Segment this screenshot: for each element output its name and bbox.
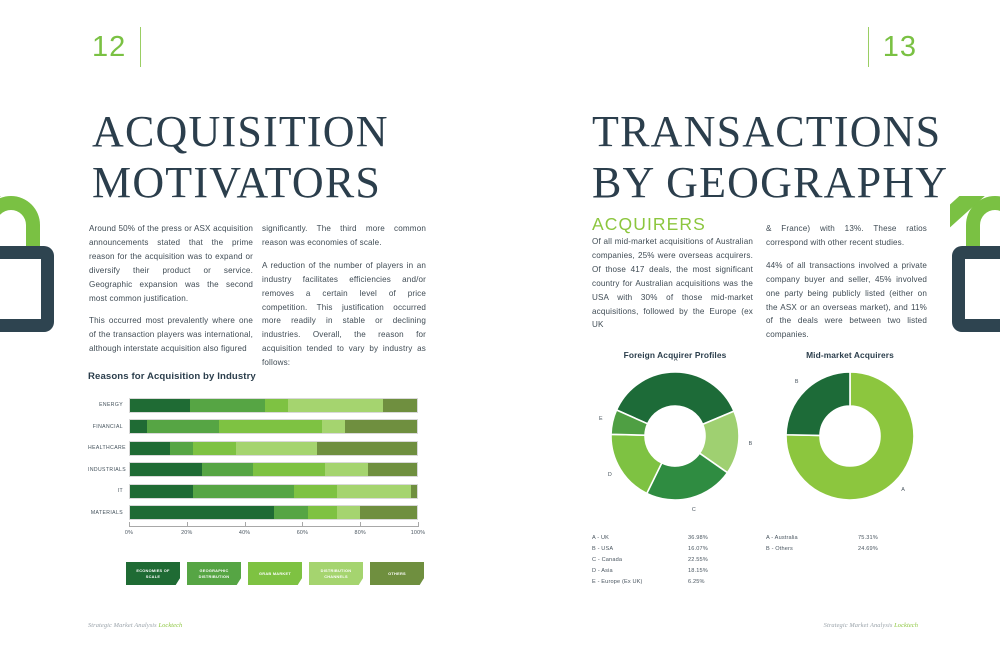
- footer-brand: Locktech: [158, 622, 182, 629]
- footer-prefix: Strategic Market Analysis: [824, 622, 893, 629]
- donut-legend-item: D - Asia18.15%: [592, 566, 742, 577]
- donut-legend-item: C - Canada22.55%: [592, 555, 742, 566]
- donut-legend-label: C - Canada: [592, 555, 688, 566]
- bar-segment: [236, 442, 316, 455]
- bar-chart-legend: ECONOMIES OF SCALEGEOGRAPHIC DISTRIBUTIO…: [126, 562, 424, 585]
- page-number-right-text: 13: [883, 33, 917, 62]
- bar-segment: [360, 506, 417, 519]
- bar-segment: [219, 420, 322, 433]
- bar-legend-item[interactable]: ECONOMIES OF SCALE: [126, 562, 180, 585]
- acquirers-section-heading: ACQUIRERS: [592, 214, 706, 235]
- bar-chart-row: ENERGY: [88, 397, 418, 413]
- bar-chart-row: FINANCIAL: [88, 419, 418, 435]
- donut-slice-label: E: [599, 416, 603, 422]
- page-number-left: 12: [92, 27, 141, 67]
- donut-legend-label: A - Australia: [766, 533, 858, 544]
- bar-legend-item[interactable]: GRAB MARKET: [248, 562, 302, 585]
- left-page-title-line-2: MOTIVATORS: [92, 157, 389, 208]
- bar-segment: [411, 485, 417, 498]
- axis-tick-label: 40%: [239, 530, 250, 536]
- donut-legend-value: 16.07%: [688, 544, 708, 555]
- donut-svg: [609, 370, 741, 502]
- donut-legend-value: 24.69%: [858, 544, 878, 555]
- mid-market-acquirers-chart: Mid-market Acquirers AB: [770, 350, 930, 514]
- bar-category-label: HEALTHCARE: [88, 445, 129, 451]
- bar-chart: Reasons for Acquisition by Industry ENER…: [88, 371, 418, 539]
- donut-legend-value: 18.15%: [688, 566, 708, 577]
- donut-legend-item: A - UK36.98%: [592, 533, 742, 544]
- footer-right: Strategic Market Analysis Locktech: [824, 622, 918, 629]
- donut-slice-label: A: [901, 487, 905, 493]
- donut-2-legend: A - Australia75.31%B - Others24.69%: [766, 533, 926, 555]
- bar-chart-row: IT: [88, 483, 418, 499]
- donut-legend-value: 22.55%: [688, 555, 708, 566]
- axis-tick-label: 0%: [125, 530, 133, 536]
- donut-legend-label: B - Others: [766, 544, 858, 555]
- bar-chart-plot-area: ENERGYFINANCIALHEALTHCAREINDUSTRIALSITMA…: [88, 397, 418, 521]
- bar-segment: [130, 442, 170, 455]
- bar-segment: [147, 420, 219, 433]
- bar-segment: [294, 485, 337, 498]
- bar-segment: [130, 485, 193, 498]
- bar-segment: [325, 463, 368, 476]
- donut-legend-item: B - Others24.69%: [766, 544, 926, 555]
- bar-category-label: ENERGY: [88, 402, 129, 408]
- paragraph: Around 50% of the press or ASX acquisiti…: [89, 222, 253, 305]
- bar-track: [129, 441, 418, 456]
- bar-track: [129, 419, 418, 434]
- page-number-divider: [868, 27, 869, 67]
- bar-category-label: MATERIALS: [88, 510, 129, 516]
- donut-slice-label: B: [795, 379, 799, 385]
- bar-segment: [190, 399, 265, 412]
- bar-segment: [308, 506, 337, 519]
- donut-slice-label: C: [692, 507, 696, 513]
- right-page-title-line-1: TRANSACTIONS: [592, 106, 948, 157]
- axis-tick-label: 20%: [181, 530, 192, 536]
- footer-brand: Locktech: [894, 622, 918, 629]
- donut-svg: [784, 370, 916, 502]
- page-number-right: 13: [868, 27, 917, 67]
- bar-chart-row: INDUSTRIALS: [88, 462, 418, 478]
- bar-segment: [253, 463, 325, 476]
- right-page-title-line-2: BY GEOGRAPHY: [592, 157, 948, 208]
- donut-legend-label: A - UK: [592, 533, 688, 544]
- bar-segment: [337, 506, 360, 519]
- donut-slice-label: B: [749, 441, 753, 447]
- bar-legend-item[interactable]: GEOGRAPHIC DISTRIBUTION: [187, 562, 241, 585]
- foreign-acquirer-profiles-chart: Foreign Acquirer Profiles ABCDE: [595, 350, 755, 514]
- paragraph: A reduction of the number of players in …: [262, 259, 426, 370]
- donut-2-plot-area: AB: [770, 366, 930, 514]
- bar-chart-x-tick-labels: 0%20%40%60%80%100%: [129, 527, 418, 539]
- donut-slice: [617, 372, 734, 424]
- axis-tick-label: 60%: [297, 530, 308, 536]
- bar-segment: [337, 485, 412, 498]
- bar-track: [129, 505, 418, 520]
- donut-legend-label: D - Asia: [592, 566, 688, 577]
- right-page-body-column-1: Of all mid-market acquisitions of Austra…: [592, 235, 753, 332]
- bar-chart-row: MATERIALS: [88, 505, 418, 521]
- donut-legend-value: 75.31%: [858, 533, 878, 544]
- axis-tick-label: 100%: [411, 530, 426, 536]
- bar-segment: [202, 463, 254, 476]
- document-spread: 12 13 ACQUISITION MOTIVATORS Around 50% …: [0, 0, 1000, 647]
- bar-segment: [193, 442, 236, 455]
- bar-segment: [130, 399, 190, 412]
- paragraph: significantly. The third more common rea…: [262, 222, 426, 250]
- donut-slice-label: A: [674, 357, 678, 363]
- right-page-title: TRANSACTIONS BY GEOGRAPHY: [592, 106, 948, 209]
- donut-1-legend: A - UK36.98%B - USA16.07%C - Canada22.55…: [592, 533, 742, 588]
- paragraph: & France) with 13%. These ratios corresp…: [766, 222, 927, 250]
- left-page-title: ACQUISITION MOTIVATORS: [92, 106, 389, 209]
- bar-segment: [265, 399, 288, 412]
- left-page-title-line-1: ACQUISITION: [92, 106, 389, 157]
- axis-tick-label: 80%: [354, 530, 365, 536]
- donut-2-title: Mid-market Acquirers: [770, 350, 930, 360]
- donut-legend-item: E - Europe (Ex UK)6.25%: [592, 577, 742, 588]
- bar-segment: [193, 485, 293, 498]
- left-page-body-column-2: significantly. The third more common rea…: [262, 222, 426, 370]
- donut-legend-item: B - USA16.07%: [592, 544, 742, 555]
- bar-segment: [288, 399, 383, 412]
- bar-category-label: INDUSTRIALS: [88, 467, 129, 473]
- bar-track: [129, 484, 418, 499]
- padlock-body-shape: [0, 246, 54, 332]
- bar-segment: [383, 399, 417, 412]
- page-number-divider: [140, 27, 141, 67]
- footer-prefix: Strategic Market Analysis: [88, 622, 157, 629]
- bar-chart-title: Reasons for Acquisition by Industry: [88, 371, 418, 382]
- padlock-logo-icon-left: [0, 196, 70, 336]
- bar-segment: [317, 442, 417, 455]
- footer-left: Strategic Market Analysis Locktech: [88, 622, 182, 629]
- bar-segment: [322, 420, 345, 433]
- bar-segment: [274, 506, 308, 519]
- axis-tick: [418, 522, 419, 527]
- page-number-left-text: 12: [92, 33, 126, 62]
- paragraph: Of all mid-market acquisitions of Austra…: [592, 235, 753, 332]
- donut-legend-label: B - USA: [592, 544, 688, 555]
- bar-segment: [130, 420, 147, 433]
- left-page-body-column-1: Around 50% of the press or ASX acquisiti…: [89, 222, 253, 356]
- right-page-body-column-2: & France) with 13%. These ratios corresp…: [766, 222, 927, 342]
- bar-category-label: FINANCIAL: [88, 424, 129, 430]
- bar-segment: [130, 506, 274, 519]
- donut-legend-item: A - Australia75.31%: [766, 533, 926, 544]
- bar-track: [129, 398, 418, 413]
- donut-1-plot-area: ABCDE: [595, 366, 755, 514]
- bar-segment: [368, 463, 417, 476]
- bar-track: [129, 462, 418, 477]
- bar-legend-item[interactable]: OTHERS: [370, 562, 424, 585]
- bar-category-label: IT: [88, 488, 129, 494]
- bar-segment: [170, 442, 193, 455]
- bar-legend-item[interactable]: DISTRIBUTION CHANNELS: [309, 562, 363, 585]
- donut-legend-label: E - Europe (Ex UK): [592, 577, 688, 588]
- donut-legend-value: 6.25%: [688, 577, 705, 588]
- bar-segment: [345, 420, 417, 433]
- donut-slice-label: D: [608, 472, 612, 478]
- bar-chart-row: HEALTHCARE: [88, 440, 418, 456]
- donut-legend-value: 36.98%: [688, 533, 708, 544]
- bar-segment: [130, 463, 202, 476]
- padlock-logo-icon-right: [950, 196, 1000, 336]
- paragraph: This occurred most prevalently where one…: [89, 314, 253, 356]
- padlock-body-shape: [952, 246, 1000, 332]
- paragraph: 44% of all transactions involved a priva…: [766, 259, 927, 342]
